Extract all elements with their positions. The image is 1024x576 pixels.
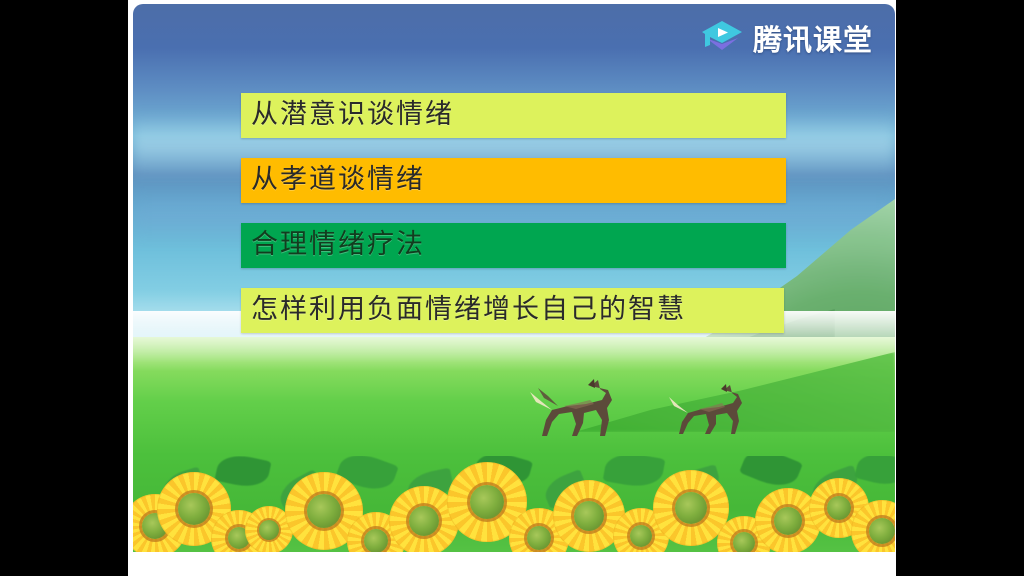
title-bar-4[interactable]: 怎样利用负面情绪增长自己的智慧: [241, 288, 784, 333]
slide-title-bars: 从潜意识谈情绪 从孝道谈情绪 合理情绪疗法 怎样利用负面情绪增长自己的智慧: [241, 93, 786, 353]
horse-left-icon: [528, 376, 624, 438]
presentation-slide: 从潜意识谈情绪 从孝道谈情绪 合理情绪疗法 怎样利用负面情绪增长自己的智慧 腾讯: [133, 4, 895, 552]
letterbox-left: [0, 0, 128, 576]
screenshot-root: 从潜意识谈情绪 从孝道谈情绪 合理情绪疗法 怎样利用负面情绪增长自己的智慧 腾讯: [0, 0, 1024, 576]
title-bar-2-label: 从孝道谈情绪: [251, 166, 425, 193]
title-bar-1[interactable]: 从潜意识谈情绪: [241, 93, 786, 138]
title-bar-3-label: 合理情绪疗法: [251, 231, 425, 258]
sunflower-border: [133, 456, 895, 552]
graduation-cap-play-icon: [700, 18, 744, 62]
horse-right-icon: [666, 382, 752, 436]
tencent-classroom-logo[interactable]: 腾讯课堂: [700, 18, 873, 62]
title-bar-2[interactable]: 从孝道谈情绪: [241, 158, 786, 203]
logo-text: 腾讯课堂: [753, 26, 873, 55]
title-bar-3[interactable]: 合理情绪疗法: [241, 223, 786, 268]
title-bar-1-label: 从潜意识谈情绪: [251, 101, 454, 128]
title-bar-4-label: 怎样利用负面情绪增长自己的智慧: [251, 296, 686, 323]
letterbox-right: [896, 0, 1024, 576]
